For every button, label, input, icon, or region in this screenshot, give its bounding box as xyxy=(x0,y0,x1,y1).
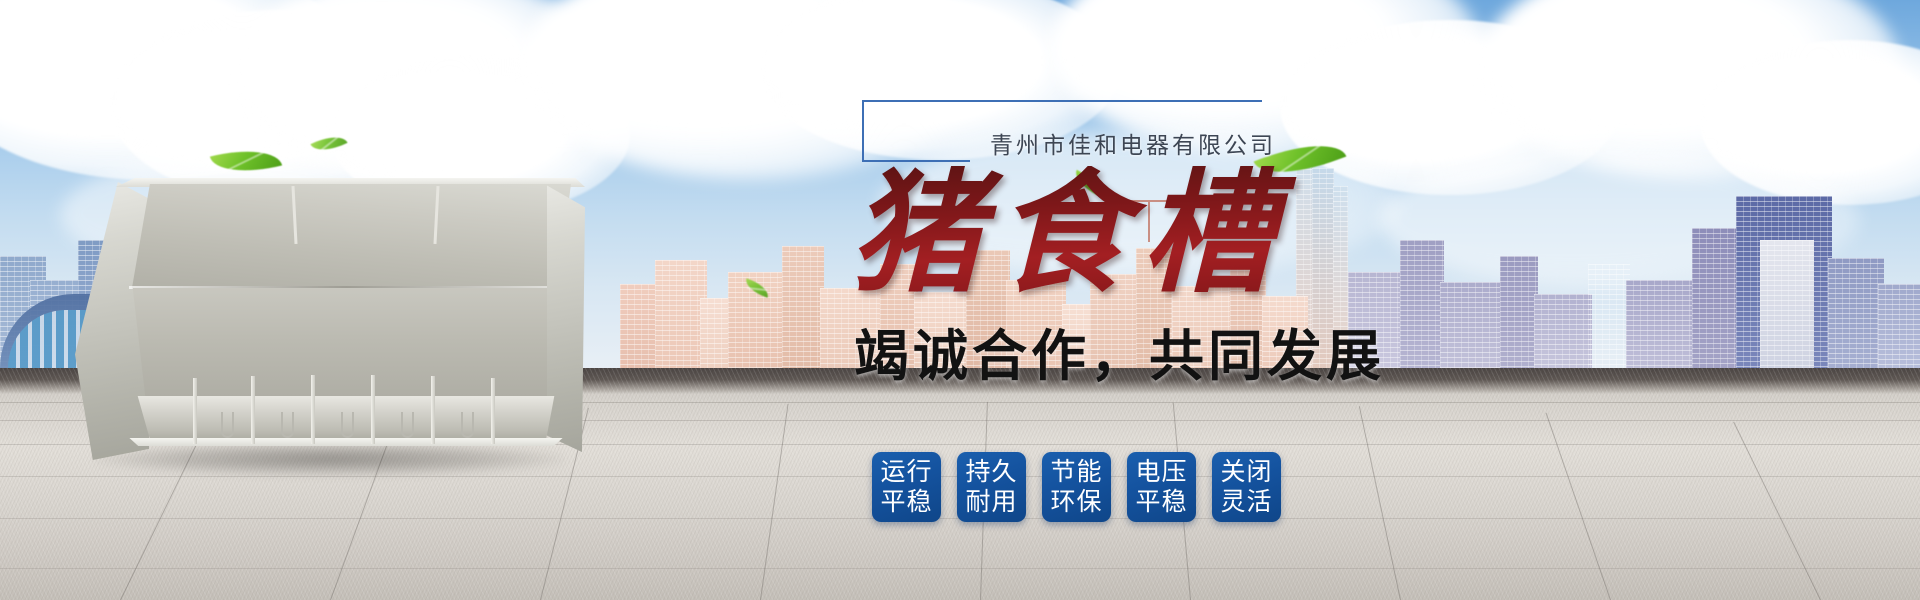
feature-badge-5-line2: 灵活 xyxy=(1220,488,1272,517)
trough-right-wall xyxy=(547,180,585,452)
feature-badge-2[interactable]: 持久 耐用 xyxy=(957,452,1026,522)
company-name: 青州市佳和电器有限公司 xyxy=(990,126,1276,160)
feature-badge-5-line1: 关闭 xyxy=(1220,458,1272,487)
trough-divider xyxy=(371,375,375,444)
feature-badge-1[interactable]: 运行 平稳 xyxy=(872,452,941,522)
feature-badge-1-line1: 运行 xyxy=(880,458,932,487)
frame-left-edge xyxy=(862,100,864,162)
trough-divider xyxy=(251,376,255,444)
frame-top-edge xyxy=(862,100,1262,102)
feature-badge-3-line2: 环保 xyxy=(1050,488,1102,517)
drinker-loop xyxy=(401,412,414,438)
trough-back-wall xyxy=(123,184,571,288)
subtitle: 竭诚合作，共同发展 xyxy=(854,311,1540,391)
trough-bottom-rail xyxy=(125,438,567,446)
feature-badge-2-line1: 持久 xyxy=(965,458,1017,487)
trough-divider xyxy=(193,378,197,444)
company-name-frame: 青州市佳和电器有限公司 xyxy=(862,100,1262,162)
drinker-loop xyxy=(341,412,354,438)
feature-badge-1-line2: 平稳 xyxy=(880,488,932,517)
feature-badge-2-line2: 耐用 xyxy=(965,488,1017,517)
drinker-loop xyxy=(461,412,474,438)
feature-badge-3[interactable]: 节能 环保 xyxy=(1042,452,1111,522)
trough-divider xyxy=(311,375,315,444)
page-title: 猪食槽 xyxy=(850,166,1540,305)
drinker-loop xyxy=(281,412,294,438)
trough-divider xyxy=(431,376,435,444)
feature-badge-5[interactable]: 关闭 灵活 xyxy=(1212,452,1281,522)
drinker-loop xyxy=(221,412,234,438)
promo-banner: 青州市佳和电器有限公司 猪食槽 竭诚合作，共同发展 运行 平稳 持久 耐用 节能… xyxy=(0,0,1920,600)
feature-badge-4[interactable]: 电压 平稳 xyxy=(1127,452,1196,522)
feature-badge-4-line2: 平稳 xyxy=(1135,488,1187,517)
feature-badge-3-line1: 节能 xyxy=(1050,458,1102,487)
trough-divider xyxy=(491,378,495,444)
feature-badge-list: 运行 平稳 持久 耐用 节能 环保 电压 平稳 关闭 灵活 xyxy=(872,452,1281,522)
feature-badge-4-line1: 电压 xyxy=(1135,458,1187,487)
trough-sloped-floor xyxy=(119,288,575,406)
product-image-pig-feeder-trough xyxy=(75,160,585,460)
headline-block: 青州市佳和电器有限公司 猪食槽 竭诚合作，共同发展 xyxy=(840,100,1540,391)
